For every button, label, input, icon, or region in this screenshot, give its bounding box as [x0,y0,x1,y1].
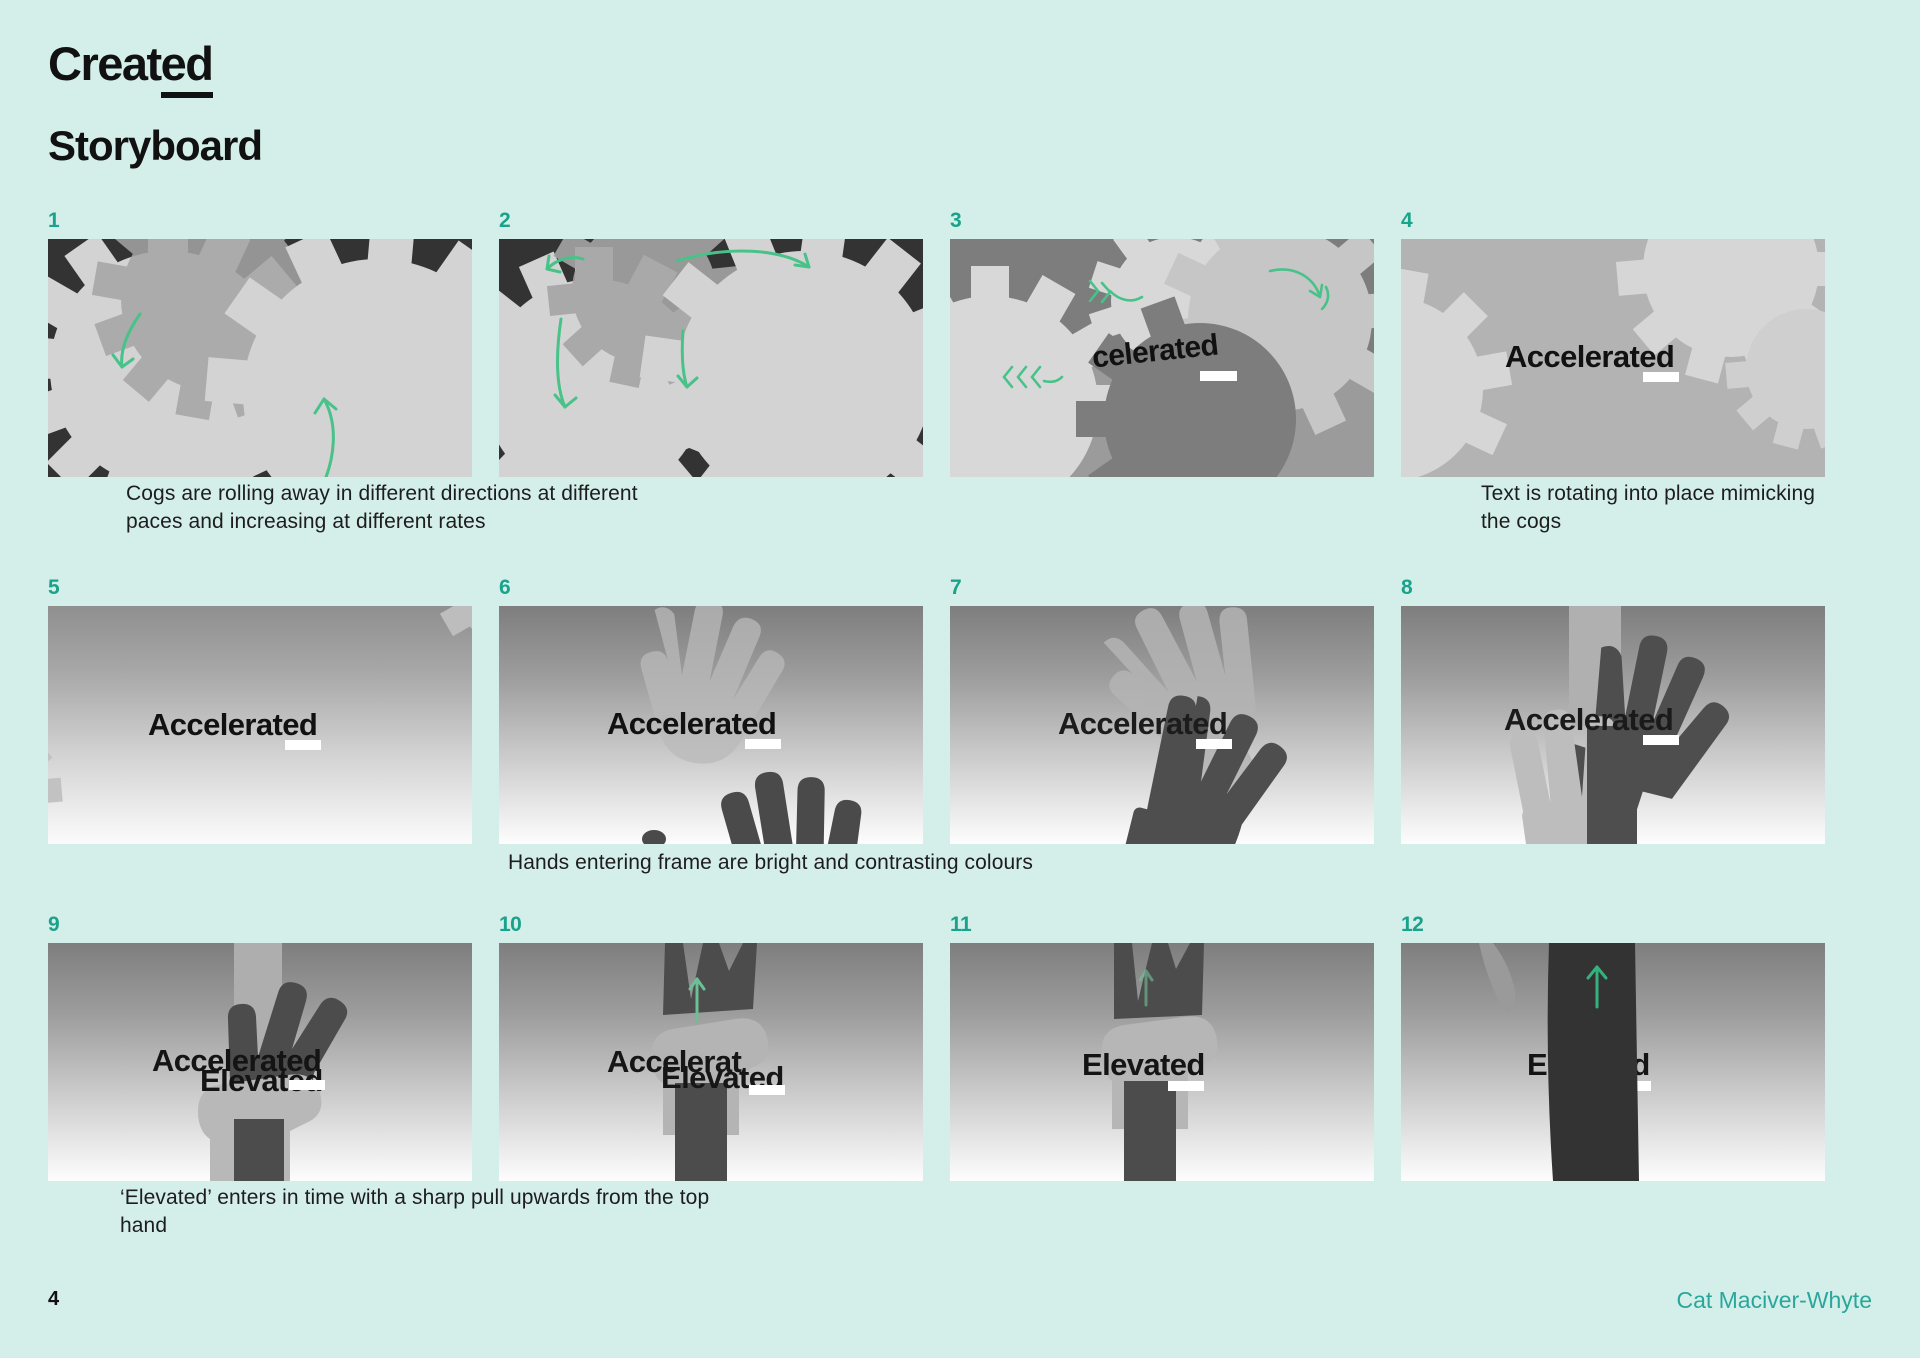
caption-row3-left: ‘Elevated’ enters in time with a sharp p… [120,1184,710,1241]
panel-word: Accelerated [1505,339,1674,375]
panel-word: Accelerated [607,706,776,742]
panel-number-11: 11 [950,914,1374,935]
brand-logo-part1: Creat [48,37,161,90]
caption-row1-right: Text is rotating into place mimicking th… [1481,480,1821,537]
storyboard-cell-4: 4 [1401,210,1825,477]
panel-number-12: 12 [1401,914,1825,935]
panel-6[interactable]: Accelerated [499,606,923,844]
panel-word-underline [1643,372,1679,382]
panel-number-3: 3 [950,210,1374,231]
panel-word-underline [1643,735,1679,745]
panel-number-10: 10 [499,914,923,935]
storyboard-cell-9: 9 Accelerated Elevated [48,914,472,1181]
panel-2[interactable] [499,239,923,477]
panel-number-6: 6 [499,577,923,598]
storyboard-cell-10: 10 [499,914,923,1181]
dark-hand-icon [1114,943,1204,1019]
panel-word: Accelerated [148,707,317,743]
page-number: 4 [48,1288,59,1311]
panel-11[interactable]: Elevated [950,943,1374,1181]
storyboard-cell-8: 8 Accelera [1401,577,1825,844]
storyboard-cell-12: 12 Elevated [1401,914,1825,1181]
dark-hand-icon [711,750,888,844]
arm-illustration-12 [1401,943,1825,1181]
panel-word: Accelerated [1504,702,1673,738]
panel-number-1: 1 [48,210,472,231]
storyboard-cell-6: 6 Accelerated [499,577,923,844]
panel-4[interactable]: Accelerated [1401,239,1825,477]
cog-illustration-2 [499,239,923,477]
panel-word-underline [745,739,781,749]
panel-word: Accelerated [1058,706,1227,742]
brand-logo: Created [48,36,213,91]
storyboard-row-1: 1 [48,210,1884,477]
storyboard-row-3: 9 Accelerated Elevated [48,914,1884,1181]
storyboard-cell-1: 1 [48,210,472,477]
panel-word-underline [285,740,321,750]
panel-number-2: 2 [499,210,923,231]
panel-9[interactable]: Accelerated Elevated [48,943,472,1181]
panel-number-5: 5 [48,577,472,598]
storyboard-cell-2: 2 [499,210,923,477]
panel-number-9: 9 [48,914,472,935]
storyboard-cell-3: 3 [950,210,1374,477]
panel-7[interactable]: Accelerated [950,606,1374,844]
panel-word-underline [749,1085,785,1095]
panel-number-7: 7 [950,577,1374,598]
dark-hand-icon [663,943,757,1015]
page-title: Storyboard [48,122,262,170]
panel-10[interactable]: Accelerat Elevated [499,943,923,1181]
author-credit: Cat Maciver-Whyte [1676,1287,1872,1314]
panel-word-underline [1168,1081,1204,1091]
panel-8[interactable]: Accelerated [1401,606,1825,844]
storyboard-grid: 1 [48,210,1884,1181]
panel-word-underline [1200,371,1237,381]
panel-word: Elevated [1082,1047,1205,1083]
panel-number-8: 8 [1401,577,1825,598]
storyboard-cell-5: 5 [48,577,472,844]
panel-12[interactable]: Elevated [1401,943,1825,1181]
storyboard-cell-7: 7 Accelerated [950,577,1374,844]
caption-row2-center: Hands entering frame are bright and cont… [508,849,1508,877]
panel-word-underline [289,1080,325,1090]
panel-word-underline [1196,739,1232,749]
cog-illustration-1 [48,239,472,477]
storyboard-cell-11: 11 [950,914,1374,1181]
panel-number-4: 4 [1401,210,1825,231]
panel-3[interactable]: celerated [950,239,1374,477]
storyboard-row-2: 5 [48,577,1884,844]
caption-row1-left: Cogs are rolling away in different direc… [126,480,666,537]
panel-1[interactable] [48,239,472,477]
panel-5[interactable]: Accelerated [48,606,472,844]
brand-logo-part2: ed [161,37,213,98]
